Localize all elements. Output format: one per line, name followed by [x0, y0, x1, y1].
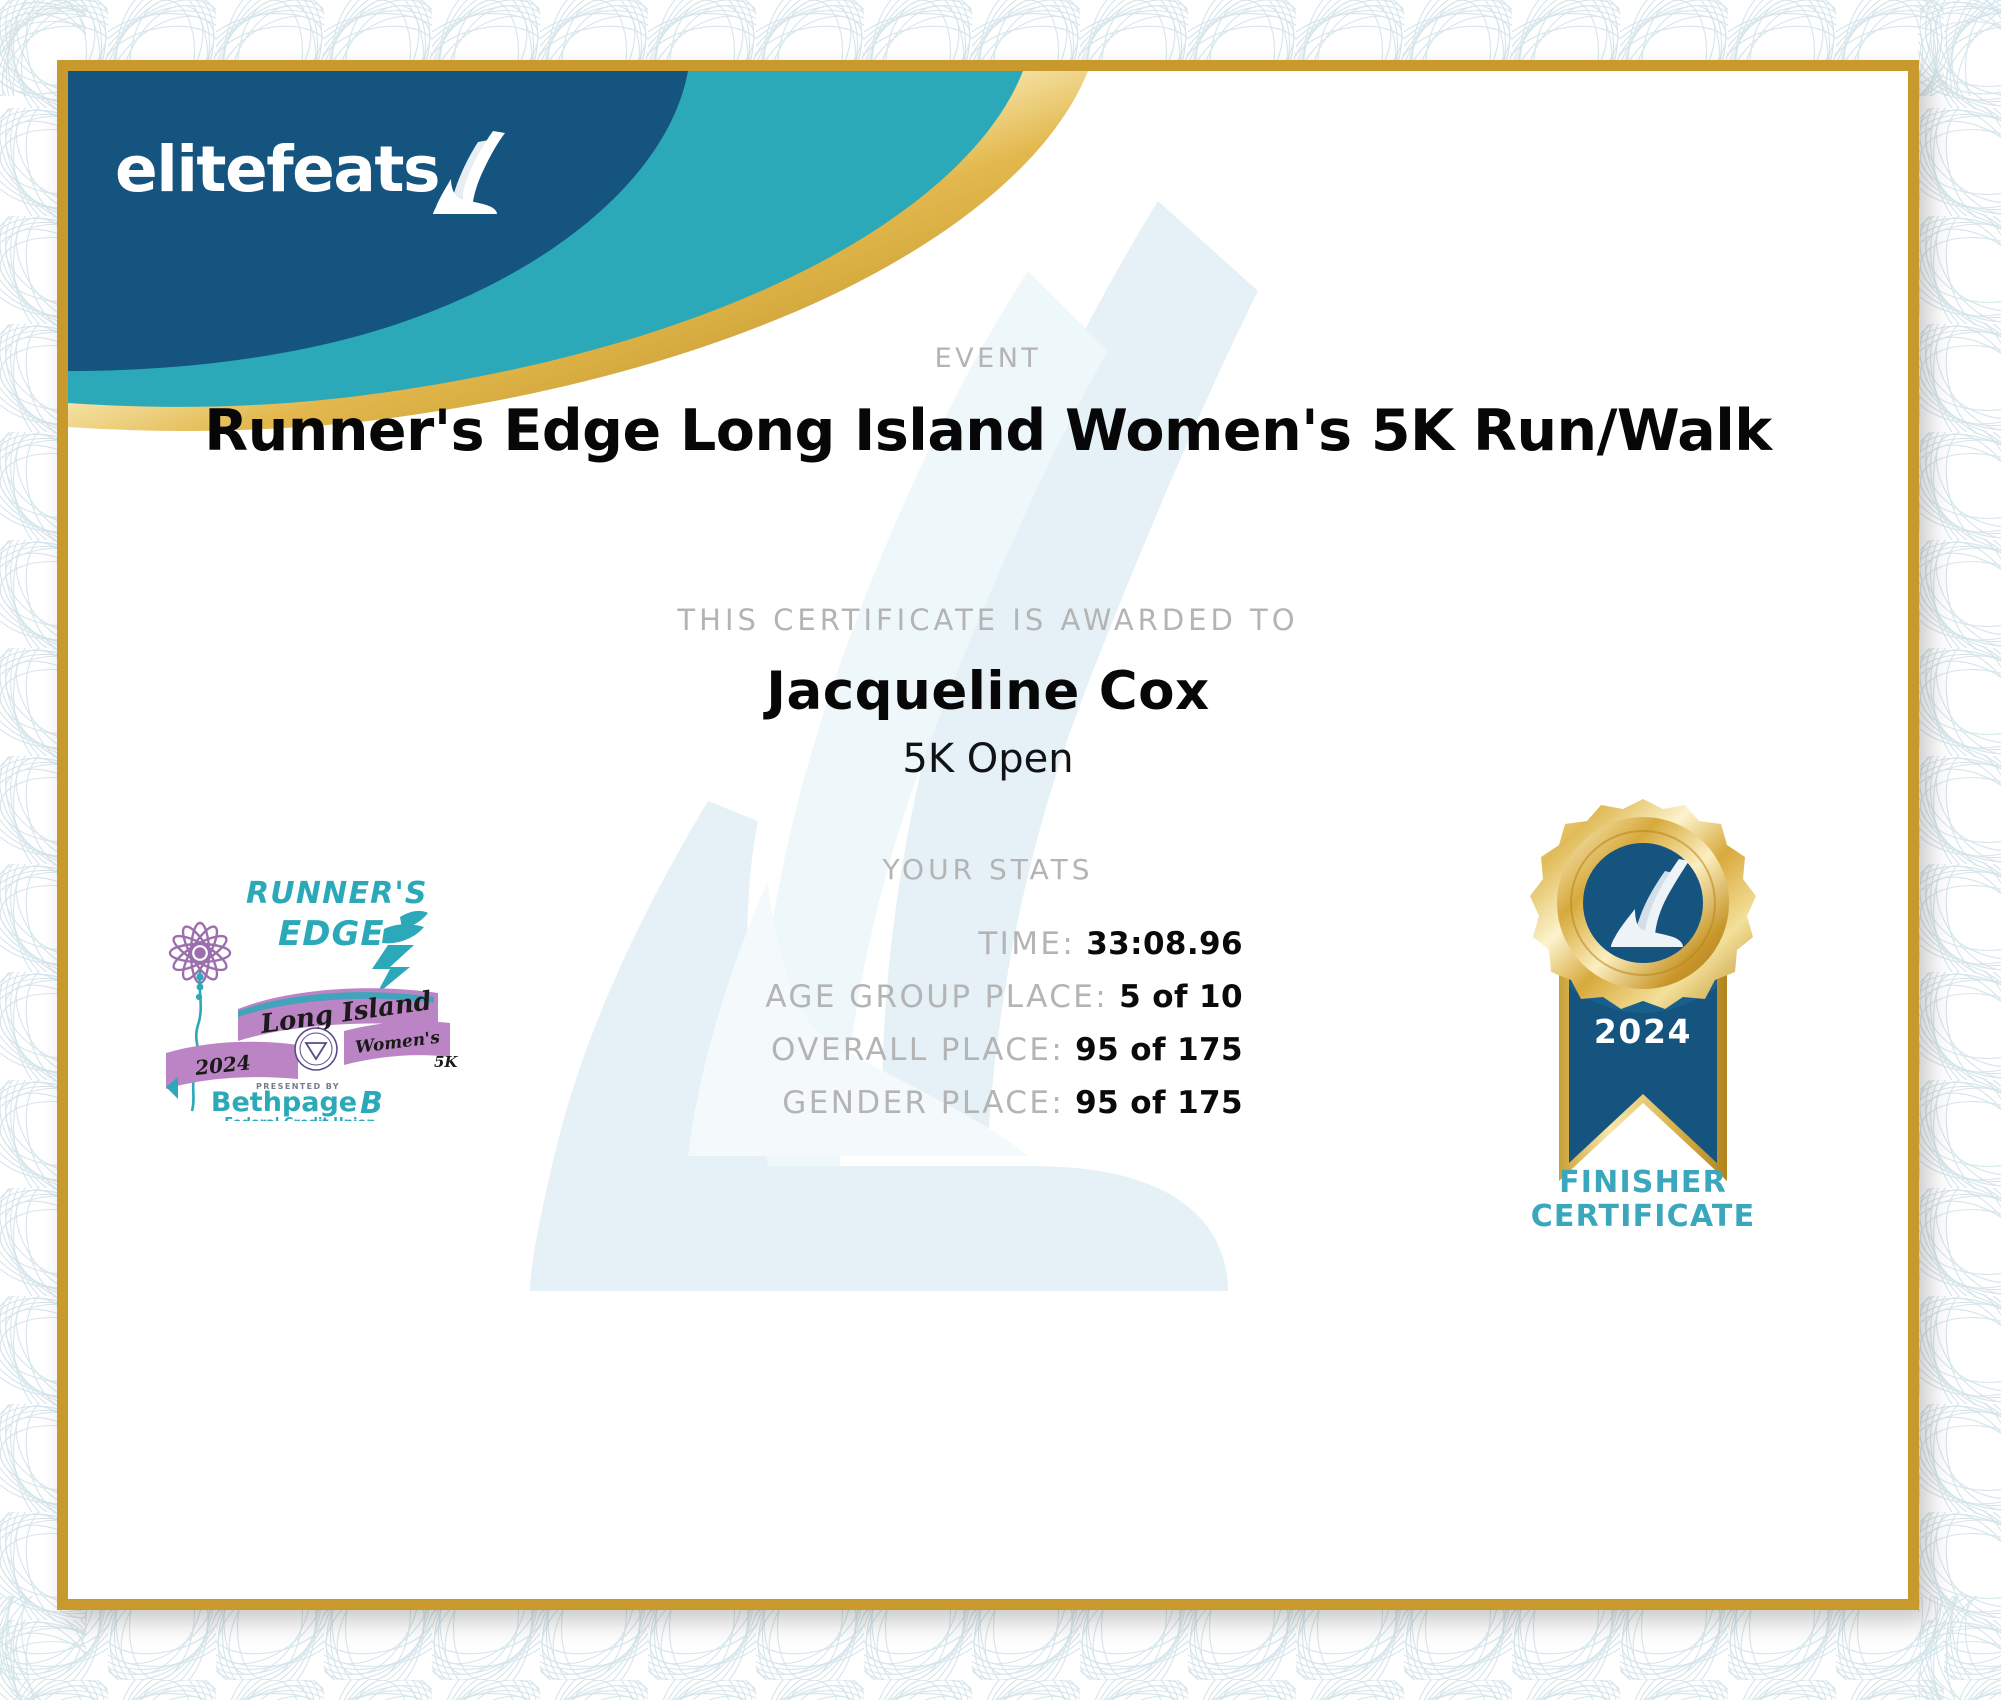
- stat-value-age-group-place: 5 of 10: [1119, 979, 1243, 1015]
- table-row: AGE GROUP PLACE: 5 of 10: [423, 979, 1243, 1015]
- event-seal-icon: [295, 1028, 337, 1070]
- recipient-division: 5K Open: [68, 736, 1908, 782]
- stat-value-time: 33:08.96: [1086, 926, 1243, 962]
- certificate-card: elitefeats EVENT Runner's Edge Long Isla…: [57, 60, 1919, 1610]
- stem-beads: [196, 973, 204, 1000]
- runners-edge-event-logo: RUNNER'S EDGE Long Island Women's 5K 202…: [138, 861, 458, 1121]
- ribbon-label-distance: 5K: [434, 1053, 458, 1071]
- sponsor-name: Bethpage: [211, 1087, 357, 1118]
- runners-edge-line1: RUNNER'S: [246, 876, 428, 911]
- stem-icon: [192, 971, 201, 1111]
- event-title: Runner's Edge Long Island Women's 5K Run…: [68, 398, 1908, 464]
- finisher-caption-line2: CERTIFICATE: [1478, 1200, 1808, 1234]
- elitefeats-wordmark: elitefeats: [115, 138, 439, 201]
- stat-key-gender-place: GENDER PLACE:: [782, 1085, 1064, 1121]
- badge-year: 2024: [1594, 1012, 1692, 1051]
- stat-value-overall-place: 95 of 175: [1075, 1032, 1243, 1068]
- certificate-body: EVENT Runner's Edge Long Island Women's …: [68, 71, 1908, 1599]
- stat-key-overall-place: OVERALL PLACE:: [771, 1032, 1064, 1068]
- sponsor-subtitle: Federal Credit Union: [224, 1116, 375, 1121]
- badge-ribbon: [1559, 971, 1727, 1181]
- event-label: EVENT: [68, 343, 1908, 374]
- finisher-certificate-caption: FINISHER CERTIFICATE: [1478, 1166, 1808, 1233]
- table-row: OVERALL PLACE: 95 of 175: [423, 1032, 1243, 1068]
- stat-key-time: TIME:: [978, 926, 1075, 962]
- awarded-to-label: THIS CERTIFICATE IS AWARDED TO: [68, 603, 1908, 637]
- stat-key-age-group-place: AGE GROUP PLACE:: [765, 979, 1108, 1015]
- winged-foot-icon: [431, 129, 509, 215]
- elitefeats-logo: elitefeats: [115, 123, 509, 215]
- stat-value-gender-place: 95 of 175: [1075, 1085, 1243, 1121]
- recipient-name: Jacqueline Cox: [68, 661, 1908, 722]
- table-row: GENDER PLACE: 95 of 175: [423, 1085, 1243, 1121]
- stats-table: TIME: 33:08.96 AGE GROUP PLACE: 5 of 10 …: [423, 926, 1243, 1138]
- finisher-caption-line1: FINISHER: [1478, 1166, 1808, 1200]
- table-row: TIME: 33:08.96: [423, 926, 1243, 962]
- runners-edge-line2: EDGE: [278, 914, 385, 954]
